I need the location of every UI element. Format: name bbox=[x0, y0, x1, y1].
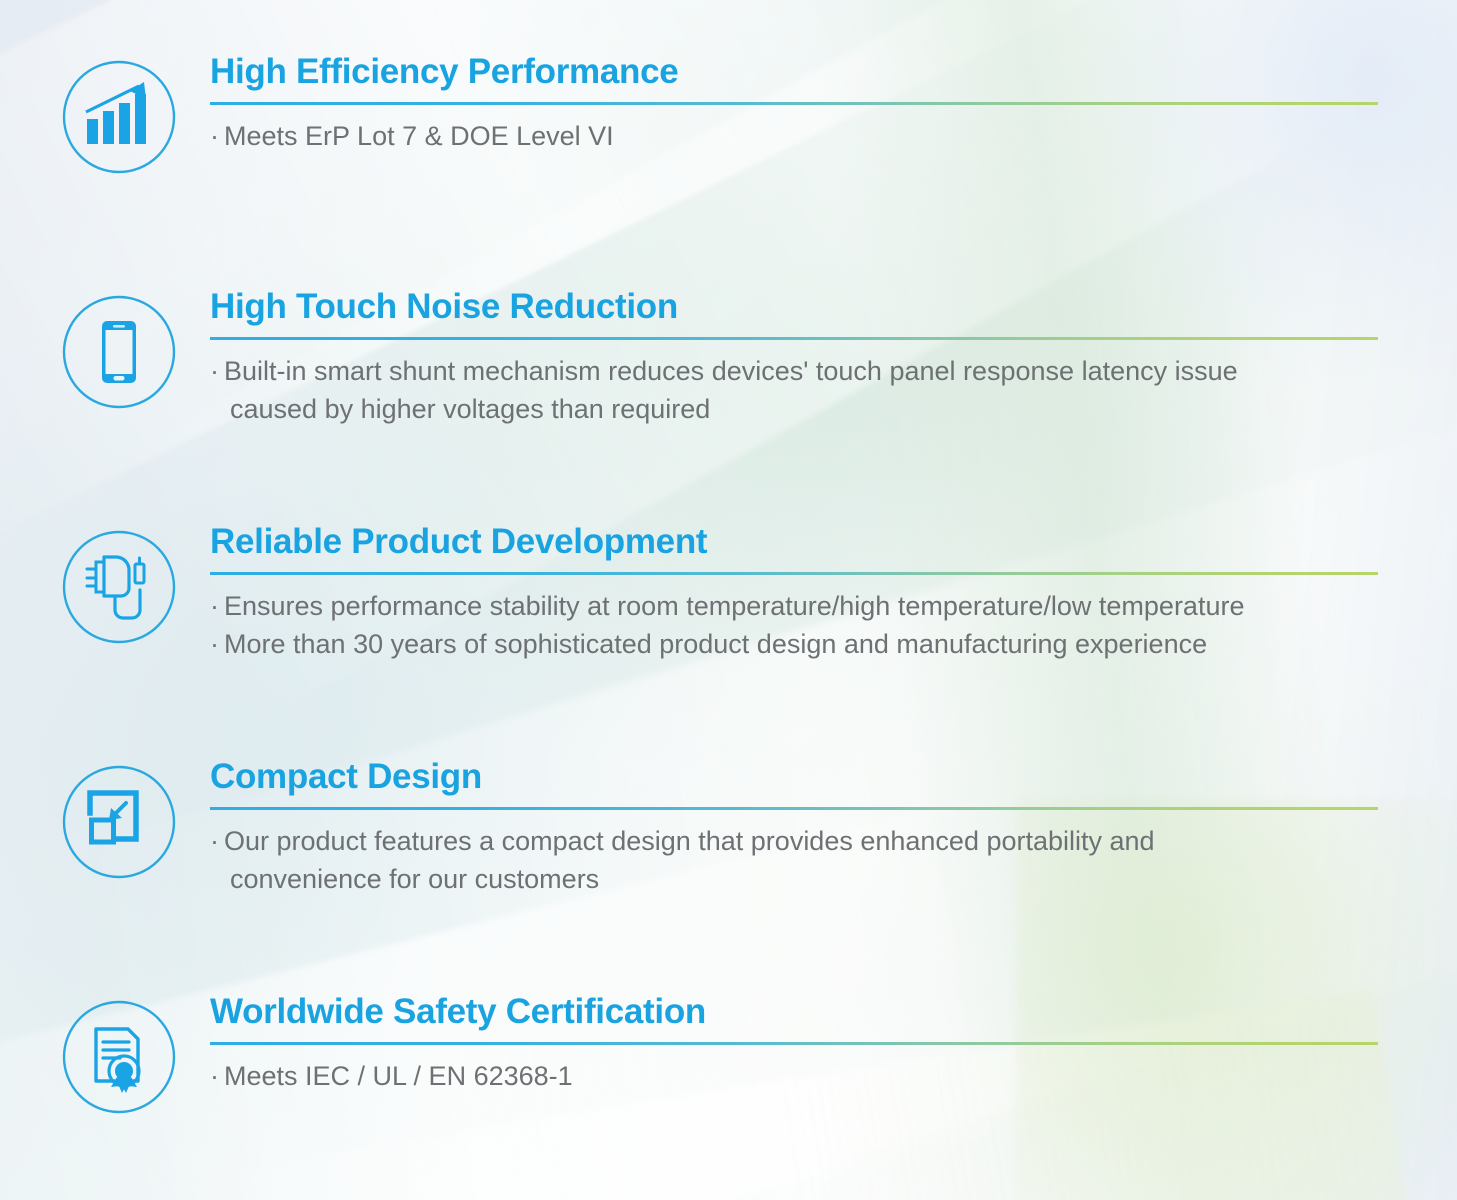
feature-bullets: ·Our product features a compact design t… bbox=[210, 822, 1380, 898]
power-adapter-icon bbox=[60, 528, 178, 646]
feature-title: Worldwide Safety Certification bbox=[210, 990, 1380, 1034]
bullet-text: Ensures performance stability at room te… bbox=[224, 591, 1244, 621]
features-list: High Efficiency Performance ·Meets ErP L… bbox=[0, 0, 1457, 1200]
bullet-marker: · bbox=[210, 826, 224, 856]
bullet-text: Meets IEC / UL / EN 62368-1 bbox=[224, 1061, 573, 1091]
bullet-item: ·Meets IEC / UL / EN 62368-1 bbox=[210, 1057, 1380, 1095]
feature-bullets: ·Meets IEC / UL / EN 62368-1 bbox=[210, 1057, 1380, 1095]
feature-divider bbox=[210, 1042, 1378, 1045]
feature-highlights-page: High Efficiency Performance ·Meets ErP L… bbox=[0, 0, 1457, 1200]
feature-bullets: ·Meets ErP Lot 7 & DOE Level VI bbox=[210, 117, 1380, 155]
feature-bullets: ·Built-in smart shunt mechanism reduces … bbox=[210, 352, 1380, 428]
feature-body: Reliable Product Development ·Ensures pe… bbox=[210, 520, 1380, 663]
bullet-item: ·Built-in smart shunt mechanism reduces … bbox=[210, 352, 1380, 390]
feature-body: Worldwide Safety Certification ·Meets IE… bbox=[210, 990, 1380, 1095]
certificate-seal-icon bbox=[60, 998, 178, 1116]
bullet-text: Built-in smart shunt mechanism reduces d… bbox=[224, 356, 1238, 386]
bullet-text: More than 30 years of sophisticated prod… bbox=[224, 629, 1207, 659]
feature-divider bbox=[210, 572, 1378, 575]
bullet-item: ·More than 30 years of sophisticated pro… bbox=[210, 625, 1380, 663]
bullet-marker: · bbox=[210, 591, 224, 621]
feature-divider bbox=[210, 102, 1378, 105]
feature-divider bbox=[210, 337, 1378, 340]
feature-title: Reliable Product Development bbox=[210, 520, 1380, 564]
feature-title: High Efficiency Performance bbox=[210, 50, 1380, 94]
smartphone-icon bbox=[60, 293, 178, 411]
bullet-marker: · bbox=[210, 1061, 224, 1091]
feature-bullets: ·Ensures performance stability at room t… bbox=[210, 587, 1380, 663]
bullet-text-continuation: convenience for our customers bbox=[210, 860, 1380, 898]
feature-title: Compact Design bbox=[210, 755, 1380, 799]
feature-divider bbox=[210, 807, 1378, 810]
feature-body: Compact Design ·Our product features a c… bbox=[210, 755, 1380, 898]
bullet-item: ·Our product features a compact design t… bbox=[210, 822, 1380, 860]
bullet-text: Meets ErP Lot 7 & DOE Level VI bbox=[224, 121, 614, 151]
bar-chart-growth-icon bbox=[60, 58, 178, 176]
feature-title: High Touch Noise Reduction bbox=[210, 285, 1380, 329]
bullet-text: Our product features a compact design th… bbox=[224, 826, 1155, 856]
feature-body: High Efficiency Performance ·Meets ErP L… bbox=[210, 50, 1380, 155]
bullet-item: ·Ensures performance stability at room t… bbox=[210, 587, 1380, 625]
bullet-item: ·Meets ErP Lot 7 & DOE Level VI bbox=[210, 117, 1380, 155]
bullet-marker: · bbox=[210, 356, 224, 386]
bullet-marker: · bbox=[210, 629, 224, 659]
compact-resize-icon bbox=[60, 763, 178, 881]
bullet-marker: · bbox=[210, 121, 224, 151]
feature-body: High Touch Noise Reduction ·Built-in sma… bbox=[210, 285, 1380, 428]
bullet-text-continuation: caused by higher voltages than required bbox=[210, 390, 1380, 428]
